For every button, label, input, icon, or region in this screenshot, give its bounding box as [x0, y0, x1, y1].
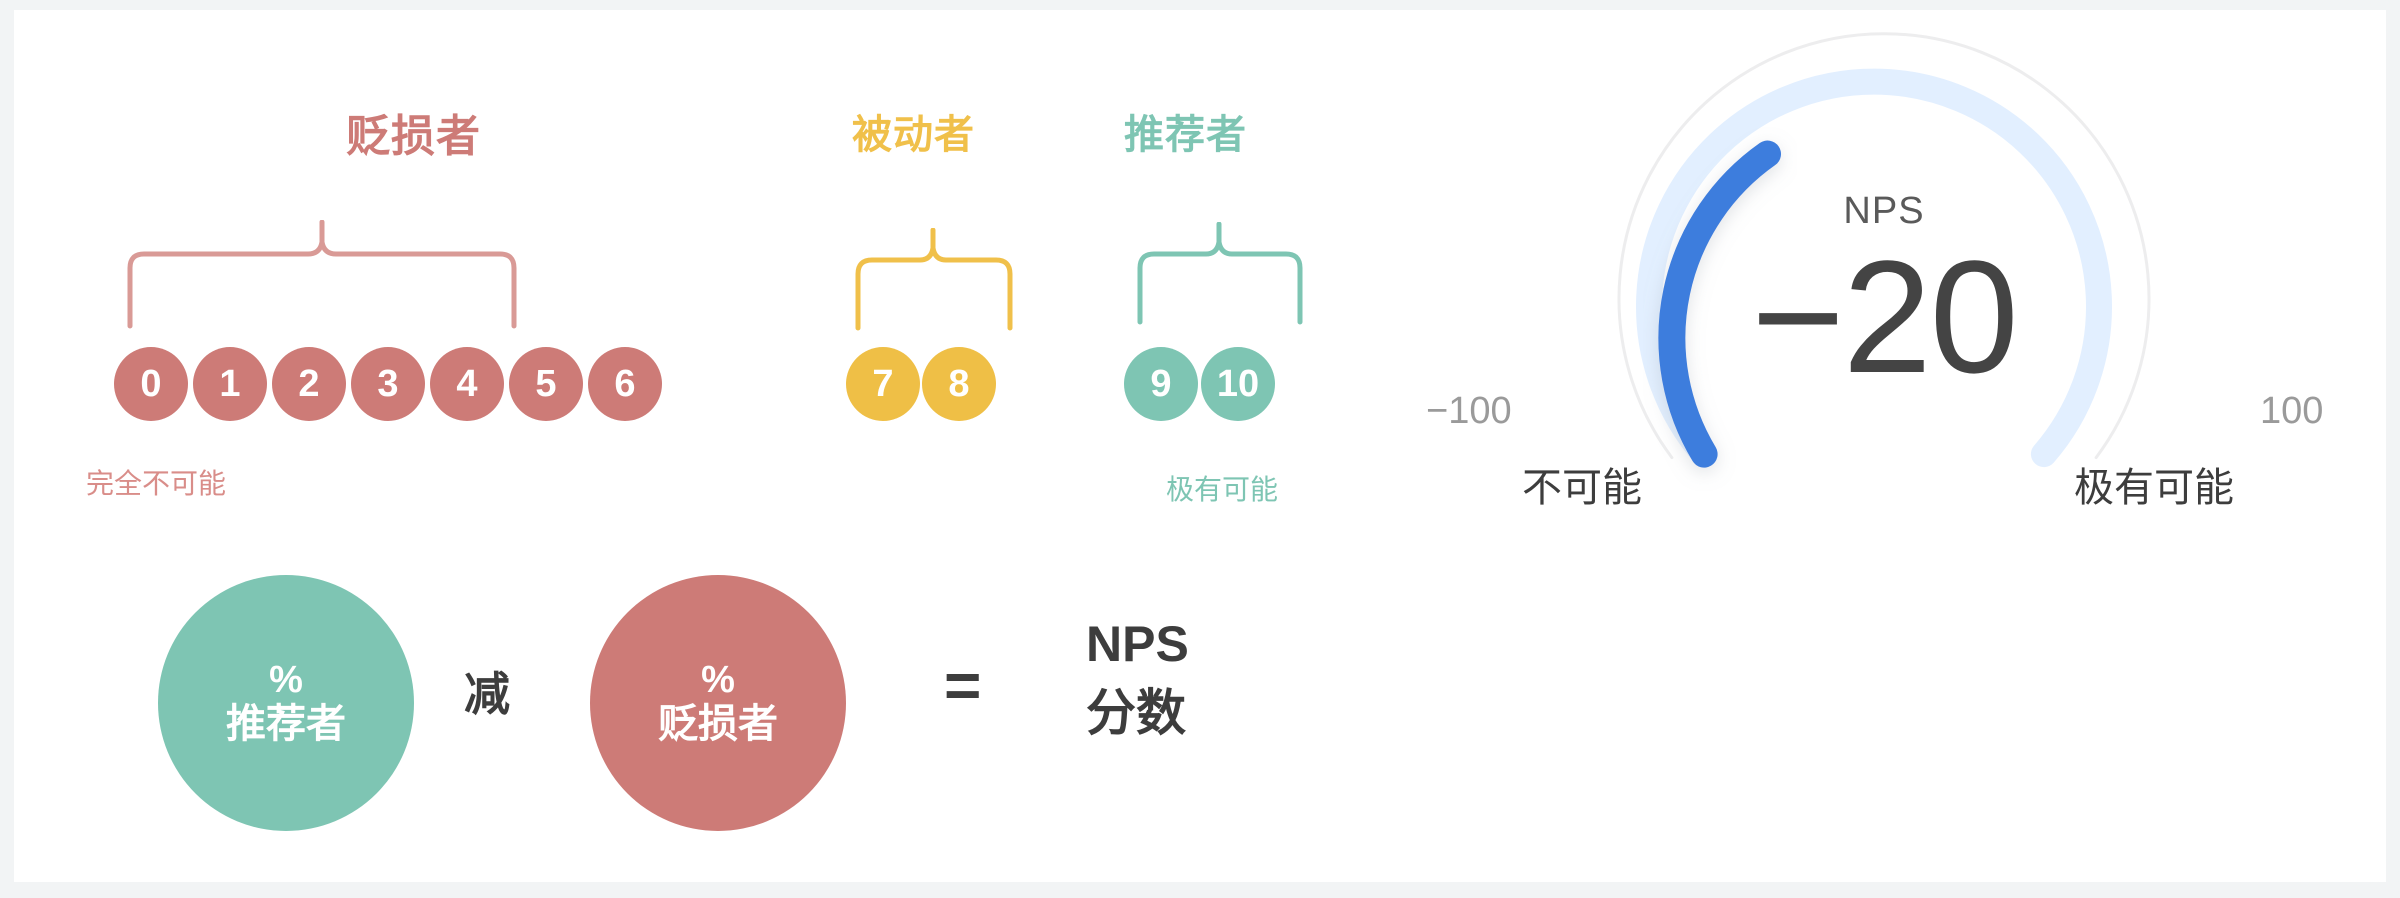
promoters-bubble-label: 推荐者	[226, 702, 346, 747]
gauge-center-readout: NPS −20	[1614, 190, 2154, 398]
formula-bubble-promoters: % 推荐者	[158, 575, 414, 831]
nps-infographic: 贬损者 被动者 推荐者 0 1	[0, 0, 2400, 898]
gauge-value: −20	[1614, 235, 2154, 398]
score-chip[interactable]: 5	[509, 347, 583, 421]
group-title-detractors: 贬损者	[346, 100, 481, 164]
gauge-tick-min: −100	[1426, 390, 1512, 433]
brace-detractors	[126, 220, 518, 335]
gauge-anchor-low: 不可能	[1522, 455, 1642, 513]
formula-result-line1: NPS	[1086, 610, 1189, 679]
scale-end-label-high: 极有可能	[1166, 468, 1278, 508]
minus-operator: 减	[464, 658, 510, 724]
nps-scale-diagram: 贬损者 被动者 推荐者 0 1	[14, 10, 1414, 882]
score-chips-detractors: 0 1 2 3 4 5 6	[114, 347, 662, 421]
detractors-bubble-label: 贬损者	[658, 702, 778, 747]
score-chip[interactable]: 0	[114, 347, 188, 421]
score-chip[interactable]: 6	[588, 347, 662, 421]
score-chip[interactable]: 4	[430, 347, 504, 421]
equals-operator: =	[944, 648, 981, 722]
card-surface: 贬损者 被动者 推荐者 0 1	[14, 10, 2386, 882]
group-title-passives: 被动者	[852, 102, 975, 160]
score-chips-promoters: 9 10	[1124, 347, 1275, 421]
score-chip[interactable]: 7	[846, 347, 920, 421]
brace-promoters	[1136, 222, 1304, 331]
score-chips-passives: 7 8	[846, 347, 996, 421]
promoters-percent-sign: %	[269, 659, 303, 702]
brace-passives	[854, 228, 1014, 337]
detractors-percent-sign: %	[701, 659, 735, 702]
score-chip[interactable]: 2	[272, 347, 346, 421]
score-chip[interactable]: 1	[193, 347, 267, 421]
score-chip[interactable]: 8	[922, 347, 996, 421]
score-chip[interactable]: 3	[351, 347, 425, 421]
scale-end-label-low: 完全不可能	[86, 462, 226, 502]
group-title-promoters: 推荐者	[1124, 102, 1247, 160]
gauge-anchor-high: 极有可能	[2074, 455, 2234, 513]
formula-result-line2: 分数	[1086, 679, 1189, 748]
score-chip[interactable]: 9	[1124, 347, 1198, 421]
formula-result: NPS 分数	[1086, 610, 1189, 748]
nps-gauge-panel: NPS −20 −100 100 不可能 极有可能	[1414, 10, 2386, 882]
formula-bubble-detractors: % 贬损者	[590, 575, 846, 831]
gauge-tick-max: 100	[2260, 390, 2323, 433]
score-chip[interactable]: 10	[1201, 347, 1275, 421]
